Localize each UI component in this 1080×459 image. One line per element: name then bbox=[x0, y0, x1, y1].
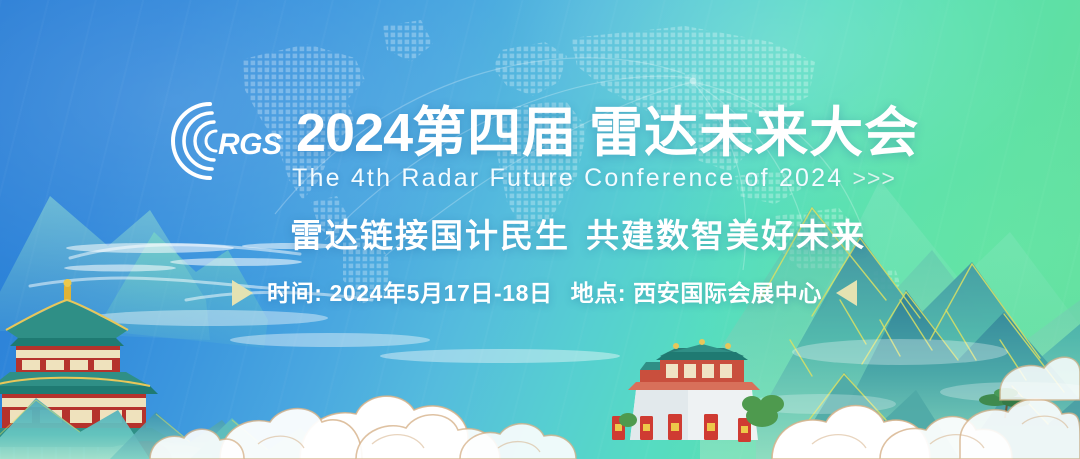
page-title: 2024第四届雷达未来大会 bbox=[296, 102, 919, 164]
place-label: 地点: bbox=[571, 280, 626, 306]
title-edition: 第四届 bbox=[412, 103, 577, 163]
slogan-part-1: 雷达链接国计民生 bbox=[290, 217, 570, 254]
slogan: 雷达链接国计民生共建数智美好未来 bbox=[290, 214, 866, 258]
time-value: 2024年5月17日-18日 bbox=[329, 280, 552, 306]
subtitle-english: The 4th Radar Future Conference of 2024 bbox=[292, 164, 843, 192]
event-meta-row: 时间: 2024年5月17日-18日地点: 西安国际会展中心 bbox=[232, 276, 857, 310]
triangle-right-icon bbox=[232, 280, 253, 306]
title-name: 雷达未来大会 bbox=[589, 103, 919, 163]
page-subtitle: The 4th Radar Future Conference of 2024 … bbox=[292, 163, 896, 193]
triangle-left-icon bbox=[836, 280, 857, 306]
place-value: 西安国际会展中心 bbox=[633, 280, 822, 306]
slogan-part-2: 共建数智美好未来 bbox=[586, 217, 866, 254]
rgs-logo: RGS bbox=[166, 96, 284, 186]
chevrons-decoration: >>> bbox=[853, 165, 896, 191]
conference-banner: RGS 2024第四届雷达未来大会 The 4th Radar Future C… bbox=[0, 0, 1080, 459]
rgs-logo-text: RGS bbox=[218, 128, 282, 161]
title-year: 2024 bbox=[296, 103, 412, 163]
event-meta-text: 时间: 2024年5月17日-18日地点: 西安国际会展中心 bbox=[267, 276, 822, 310]
rgs-radar-logo-icon: RGS bbox=[166, 96, 284, 186]
time-label: 时间: bbox=[267, 280, 322, 306]
